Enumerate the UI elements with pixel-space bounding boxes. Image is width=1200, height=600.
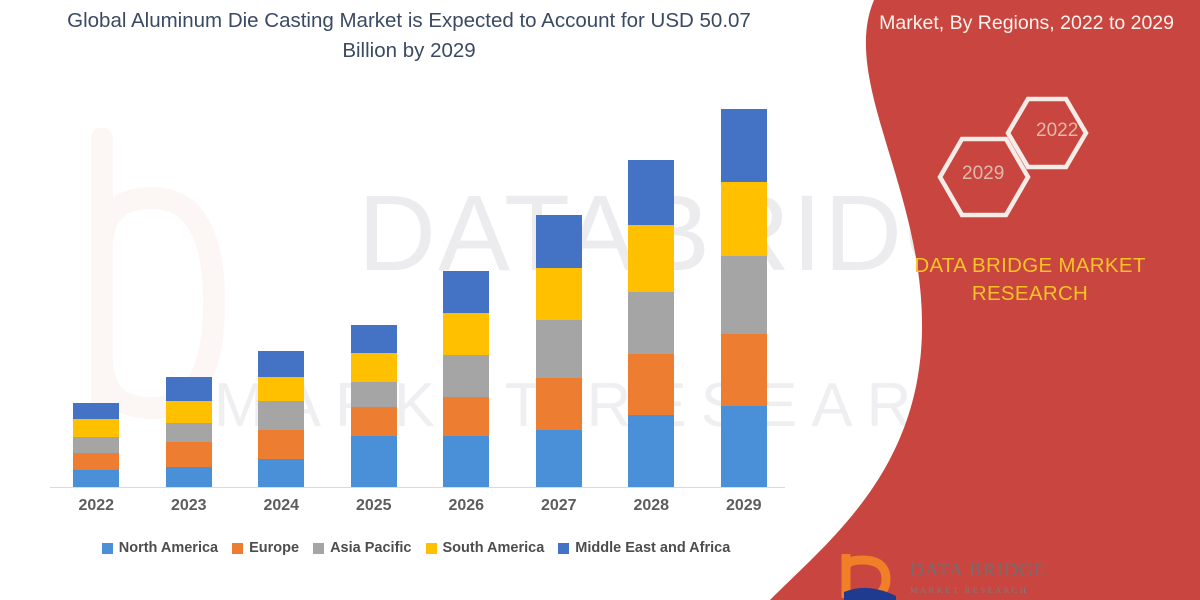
bar-column	[236, 100, 326, 487]
legend-label: Europe	[249, 540, 299, 556]
bar-column	[51, 100, 141, 487]
bar-segment	[443, 436, 489, 487]
dbmr-logo-subtext: MARKET RESEARCH	[910, 585, 1028, 595]
bar-stack	[258, 351, 304, 487]
bar-column	[421, 100, 511, 487]
dbmr-logo: DATA BRIDGE MARKET RESEARCH	[838, 552, 1138, 600]
bar-segment	[721, 256, 767, 334]
bar-segment	[443, 271, 489, 313]
bar-segment	[628, 225, 674, 293]
bar-segment	[258, 430, 304, 459]
legend-item[interactable]: Asia Pacific	[313, 540, 411, 556]
bar-segment	[166, 423, 212, 442]
legend-label: Asia Pacific	[330, 540, 411, 556]
bar-segment	[73, 453, 119, 470]
hexagon-badge-2022-label: 2022	[1036, 120, 1078, 142]
panel-subtitle: Market, By Regions, 2022 to 2029	[844, 8, 1174, 38]
bar-segment	[443, 355, 489, 397]
bar-segment	[628, 160, 674, 225]
page-title: Global Aluminum Die Casting Market is Ex…	[44, 6, 774, 66]
x-axis-label: 2027	[514, 497, 604, 515]
bar-column	[699, 100, 789, 487]
bar-stack	[166, 377, 212, 487]
bar-stack	[73, 403, 119, 487]
bar-segment	[351, 407, 397, 436]
bar-segment	[351, 353, 397, 382]
bar-stack	[536, 215, 582, 487]
bar-segment	[536, 430, 582, 487]
bar-segment	[536, 215, 582, 268]
bar-stack	[443, 271, 489, 487]
brand-name: DATA BRIDGE MARKET RESEARCH	[875, 252, 1185, 308]
x-axis-label: 2026	[421, 497, 511, 515]
infographic-canvas: DATABRIDGE MARKET RESEARCH Global Alumin…	[0, 0, 1200, 600]
x-axis-label: 2022	[51, 497, 141, 515]
bar-stack	[721, 109, 767, 487]
legend-swatch	[558, 543, 569, 554]
legend-swatch	[102, 543, 113, 554]
bar-stack	[628, 160, 674, 487]
bar-segment	[166, 377, 212, 401]
legend-item[interactable]: North America	[102, 540, 218, 556]
bar-segment	[258, 351, 304, 378]
bar-segment	[721, 109, 767, 182]
bar-segment	[721, 406, 767, 487]
legend-item[interactable]: Europe	[232, 540, 299, 556]
bar-segment	[628, 292, 674, 353]
bar-segment	[73, 403, 119, 419]
bar-segment	[443, 397, 489, 437]
x-axis-label: 2023	[144, 497, 234, 515]
bar-column	[606, 100, 696, 487]
dbmr-b-logo-icon	[838, 552, 900, 600]
legend-label: South America	[443, 540, 545, 556]
bar-segment	[166, 401, 212, 423]
x-axis-line	[50, 487, 785, 488]
dbmr-logo-text: DATA BRIDGE	[910, 560, 1047, 582]
legend-swatch	[426, 543, 437, 554]
bar-segment	[73, 470, 119, 487]
legend-item[interactable]: South America	[426, 540, 545, 556]
legend-swatch	[232, 543, 243, 554]
bar-segment	[258, 459, 304, 487]
stacked-bar-chart	[50, 100, 790, 487]
legend-label: North America	[119, 540, 218, 556]
bar-segment	[258, 401, 304, 430]
x-axis-label: 2024	[236, 497, 326, 515]
bar-segment	[258, 377, 304, 401]
bar-segment	[73, 419, 119, 436]
bar-segment	[351, 325, 397, 353]
chart-legend: North AmericaEuropeAsia PacificSouth Ame…	[46, 540, 786, 556]
bar-segment	[721, 334, 767, 406]
bar-segment	[351, 382, 397, 408]
bar-segment	[536, 268, 582, 321]
bar-segment	[628, 415, 674, 487]
bar-segment	[73, 437, 119, 453]
bar-segment	[628, 354, 674, 415]
bar-column	[144, 100, 234, 487]
bar-segment	[443, 313, 489, 355]
hexagon-badge-group: 2022 2029	[920, 95, 1110, 225]
legend-item[interactable]: Middle East and Africa	[558, 540, 730, 556]
bar-segment	[536, 320, 582, 378]
x-axis-labels: 20222023202420252026202720282029	[50, 497, 790, 515]
bar-segment	[166, 442, 212, 467]
bar-stack	[351, 325, 397, 487]
legend-swatch	[313, 543, 324, 554]
bar-segment	[721, 182, 767, 256]
bar-segment	[536, 378, 582, 430]
legend-label: Middle East and Africa	[575, 540, 730, 556]
bar-column	[329, 100, 419, 487]
bar-column	[514, 100, 604, 487]
x-axis-label: 2029	[699, 497, 789, 515]
x-axis-label: 2025	[329, 497, 419, 515]
hexagon-outlines-icon	[920, 95, 1110, 225]
hexagon-badge-2029-label: 2029	[962, 163, 1004, 185]
bar-segment	[351, 436, 397, 487]
x-axis-label: 2028	[606, 497, 696, 515]
bar-segment	[166, 467, 212, 487]
